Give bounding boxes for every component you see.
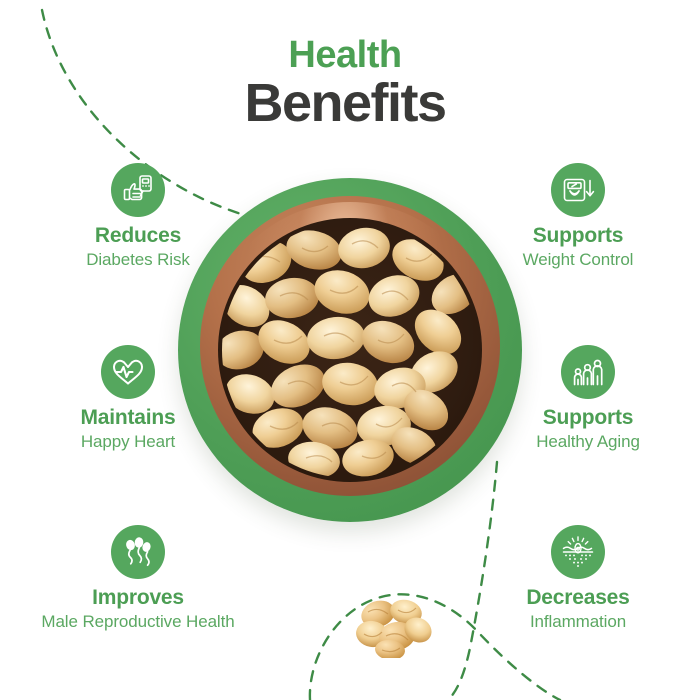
skin-inflammation-icon: [551, 525, 605, 579]
page-title-line-2: Benefits: [0, 76, 690, 130]
infographic-canvas: Health Benefits: [0, 0, 690, 700]
benefit-subtitle: Happy Heart: [13, 432, 243, 453]
benefit-item-heart[interactable]: Maintains Happy Heart: [13, 345, 243, 452]
benefit-title: Supports: [473, 407, 690, 430]
weight-scale-down-arrow-icon: [551, 163, 605, 217]
benefit-item-aging[interactable]: Supports Healthy Aging: [473, 345, 690, 452]
page-title: Health Benefits: [0, 36, 690, 130]
benefit-subtitle: Healthy Aging: [473, 432, 690, 453]
benefit-subtitle: Diabetes Risk: [23, 250, 253, 271]
walnut-kernel-image: [352, 592, 436, 658]
benefit-subtitle: Male Reproductive Health: [23, 612, 253, 633]
benefit-subtitle: Weight Control: [463, 250, 690, 271]
glucometer-thumbs-up-icon: [111, 163, 165, 217]
benefit-title: Reduces: [23, 225, 253, 248]
benefit-item-reproductive[interactable]: Improves Male Reproductive Health: [23, 525, 253, 632]
benefit-subtitle: Inflammation: [463, 612, 690, 633]
heart-pulse-icon: [101, 345, 155, 399]
page-title-line-1: Health: [0, 36, 690, 74]
three-people-growth-icon: [561, 345, 615, 399]
benefit-title: Improves: [23, 587, 253, 610]
benefit-item-diabetes[interactable]: Reduces Diabetes Risk: [23, 163, 253, 270]
sperm-cells-icon: [111, 525, 165, 579]
benefit-title: Maintains: [13, 407, 243, 430]
benefit-title: Decreases: [463, 587, 690, 610]
benefit-item-inflammation[interactable]: Decreases Inflammation: [463, 525, 690, 632]
walnut-kernels-group: [222, 222, 478, 478]
benefit-item-weight[interactable]: Supports Weight Control: [463, 163, 690, 270]
benefit-title: Supports: [463, 225, 690, 248]
